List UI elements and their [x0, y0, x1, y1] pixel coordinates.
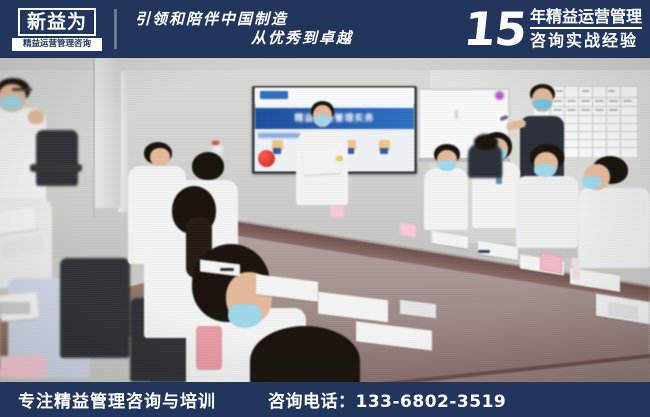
years-text: 年精益运营管理 咨询实战经验	[530, 8, 642, 51]
slide-logo	[260, 91, 288, 99]
banner-divider	[114, 9, 117, 49]
training-room-photo: 精益现场管理实务	[0, 58, 650, 382]
logo-main-text: 新益为	[27, 13, 87, 32]
whiteboard-sticker	[495, 91, 504, 100]
pen-1	[220, 268, 234, 271]
pen-2	[478, 250, 490, 253]
wall-column	[95, 58, 121, 208]
chair-arm-1	[30, 164, 82, 172]
footer-banner: 专注精益管理咨询与培训 咨询电话：133-6802-3519	[0, 382, 650, 417]
office-chair-2	[60, 258, 130, 358]
slogan-line-2: 从优秀到卓越	[129, 29, 379, 48]
bottle-cap-left	[212, 141, 219, 145]
years-text-line-1: 年精益运营管理	[530, 8, 642, 29]
years-text-line-2: 咨询实战经验	[530, 29, 642, 50]
slide-icon-base-4	[380, 148, 388, 154]
slide-red-marker	[258, 150, 275, 167]
cup-right	[572, 257, 580, 280]
banner-slogan: 引领和陪伴中国制造 从优秀到卓越	[129, 10, 379, 48]
years-number: 15	[462, 6, 529, 52]
slide-accent-line	[258, 133, 300, 138]
name-card-1	[540, 252, 562, 273]
footer-tagline: 专注精益管理咨询与培训	[18, 387, 216, 412]
promotional-image: 新益为 精益运营管理咨询 引领和陪伴中国制造 从优秀到卓越 15 年精益运营管理…	[0, 0, 650, 417]
header-banner: 新益为 精益运营管理咨询 引领和陪伴中国制造 从优秀到卓越 15 年精益运营管理…	[0, 0, 650, 58]
slide-icon-base-1	[273, 148, 281, 154]
name-card-3	[330, 205, 344, 218]
slogan-line-1: 引领和陪伴中国制造	[129, 10, 379, 29]
experience-block: 15 年精益运营管理 咨询实战经验	[379, 6, 650, 52]
name-card-foreground	[0, 356, 46, 378]
slide-title-text: 精益现场管理实务	[255, 111, 414, 127]
company-logo: 新益为 精益运营管理咨询	[6, 4, 106, 54]
logo-frame: 新益为	[18, 8, 96, 36]
office-chair-1	[36, 130, 78, 186]
footer-phone: 咨询电话：133-6802-3519	[268, 387, 506, 412]
logo-sub-text: 精益运营管理咨询	[12, 38, 102, 51]
whiteboard-writing	[455, 110, 458, 119]
name-card-2	[400, 223, 416, 238]
